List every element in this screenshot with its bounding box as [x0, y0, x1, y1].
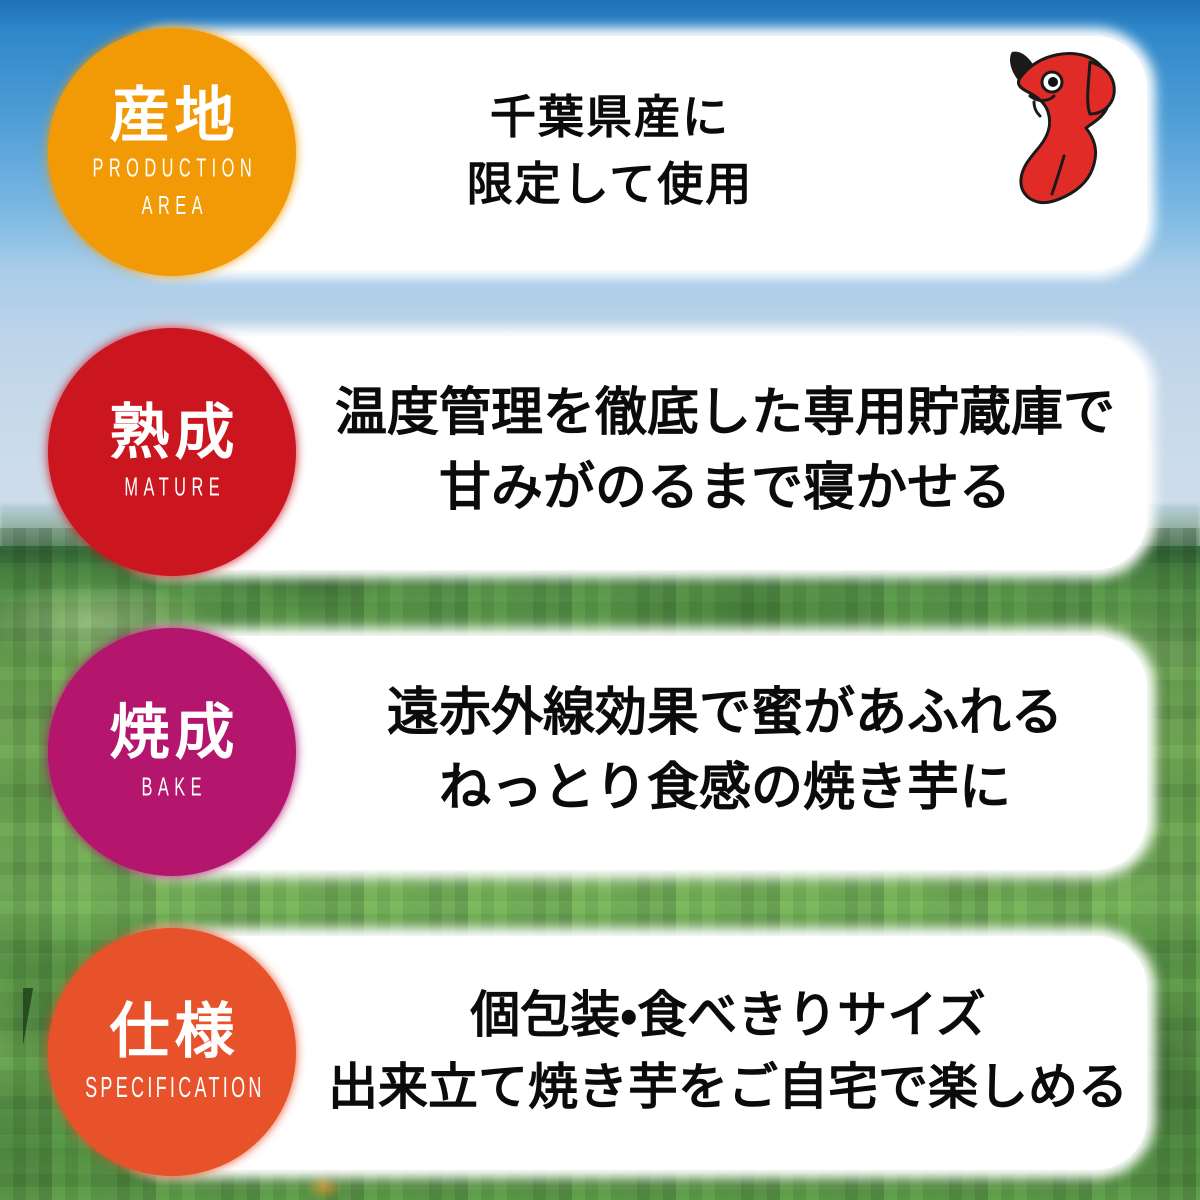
sweet-potato-mascot-icon [990, 44, 1140, 224]
row-body-text: 温度管理を徹底した専用貯蔵庫で 甘みがのるまで寝かせる [300, 322, 1150, 580]
body-line: ねっとり食感の焼き芋に [439, 751, 1011, 826]
body-line: 個包装・食べきりサイズ [470, 979, 986, 1052]
badge-en-label: MATURE [119, 472, 225, 505]
body-line: 千葉県産に [490, 84, 730, 151]
row-body-text: 遠赤外線効果で蜜があふれる ねっとり食感の焼き芋に [300, 622, 1150, 880]
badge-en-label: BAKE [136, 772, 207, 805]
body-line: 出来立て焼き芋をご自宅で楽しめる [328, 1051, 1128, 1124]
row-body-text: 個包装・食べきりサイズ 出来立て焼き芋をご自宅で楽しめる [288, 922, 1168, 1180]
row-body-text: 千葉県産に 限定して使用 [330, 22, 890, 280]
badge-specification: 仕様 SPECIFICATION [48, 928, 296, 1176]
badge-jp-label: 熟成 [105, 403, 240, 463]
body-line: 甘みがのるまで寝かせる [439, 451, 1011, 526]
feature-row: 仕様 SPECIFICATION 個包装・食べきりサイズ 出来立て焼き芋をご自宅… [0, 922, 1200, 1180]
badge-jp-label: 仕様 [105, 1002, 240, 1062]
feature-rows: 産地 PRODUCTION AREA 千葉県産に 限定して使用 [0, 0, 1200, 1200]
badge-mature: 熟成 MATURE [48, 328, 296, 576]
body-line: 温度管理を徹底した専用貯蔵庫で [335, 376, 1115, 451]
feature-row: 熟成 MATURE 温度管理を徹底した専用貯蔵庫で 甘みがのるまで寝かせる [0, 322, 1200, 580]
body-line: 遠赤外線効果で蜜があふれる [387, 676, 1063, 751]
badge-en-label: PRODUCTION AREA [87, 150, 257, 226]
feature-row: 産地 PRODUCTION AREA 千葉県産に 限定して使用 [0, 22, 1200, 280]
badge-en-label: SPECIFICATION [79, 1070, 264, 1106]
badge-production-area: 産地 PRODUCTION AREA [48, 28, 296, 276]
body-line: 限定して使用 [467, 151, 754, 218]
feature-row: 焼成 BAKE 遠赤外線効果で蜜があふれる ねっとり食感の焼き芋に [0, 622, 1200, 880]
badge-en-line2: AREA [87, 188, 257, 226]
badge-en-line1: PRODUCTION [87, 150, 257, 188]
badge-bake: 焼成 BAKE [48, 628, 296, 876]
badge-jp-label: 産地 [105, 86, 240, 146]
badge-jp-label: 焼成 [105, 703, 240, 763]
promo-panel-graphic: 産地 PRODUCTION AREA 千葉県産に 限定して使用 [0, 0, 1200, 1200]
